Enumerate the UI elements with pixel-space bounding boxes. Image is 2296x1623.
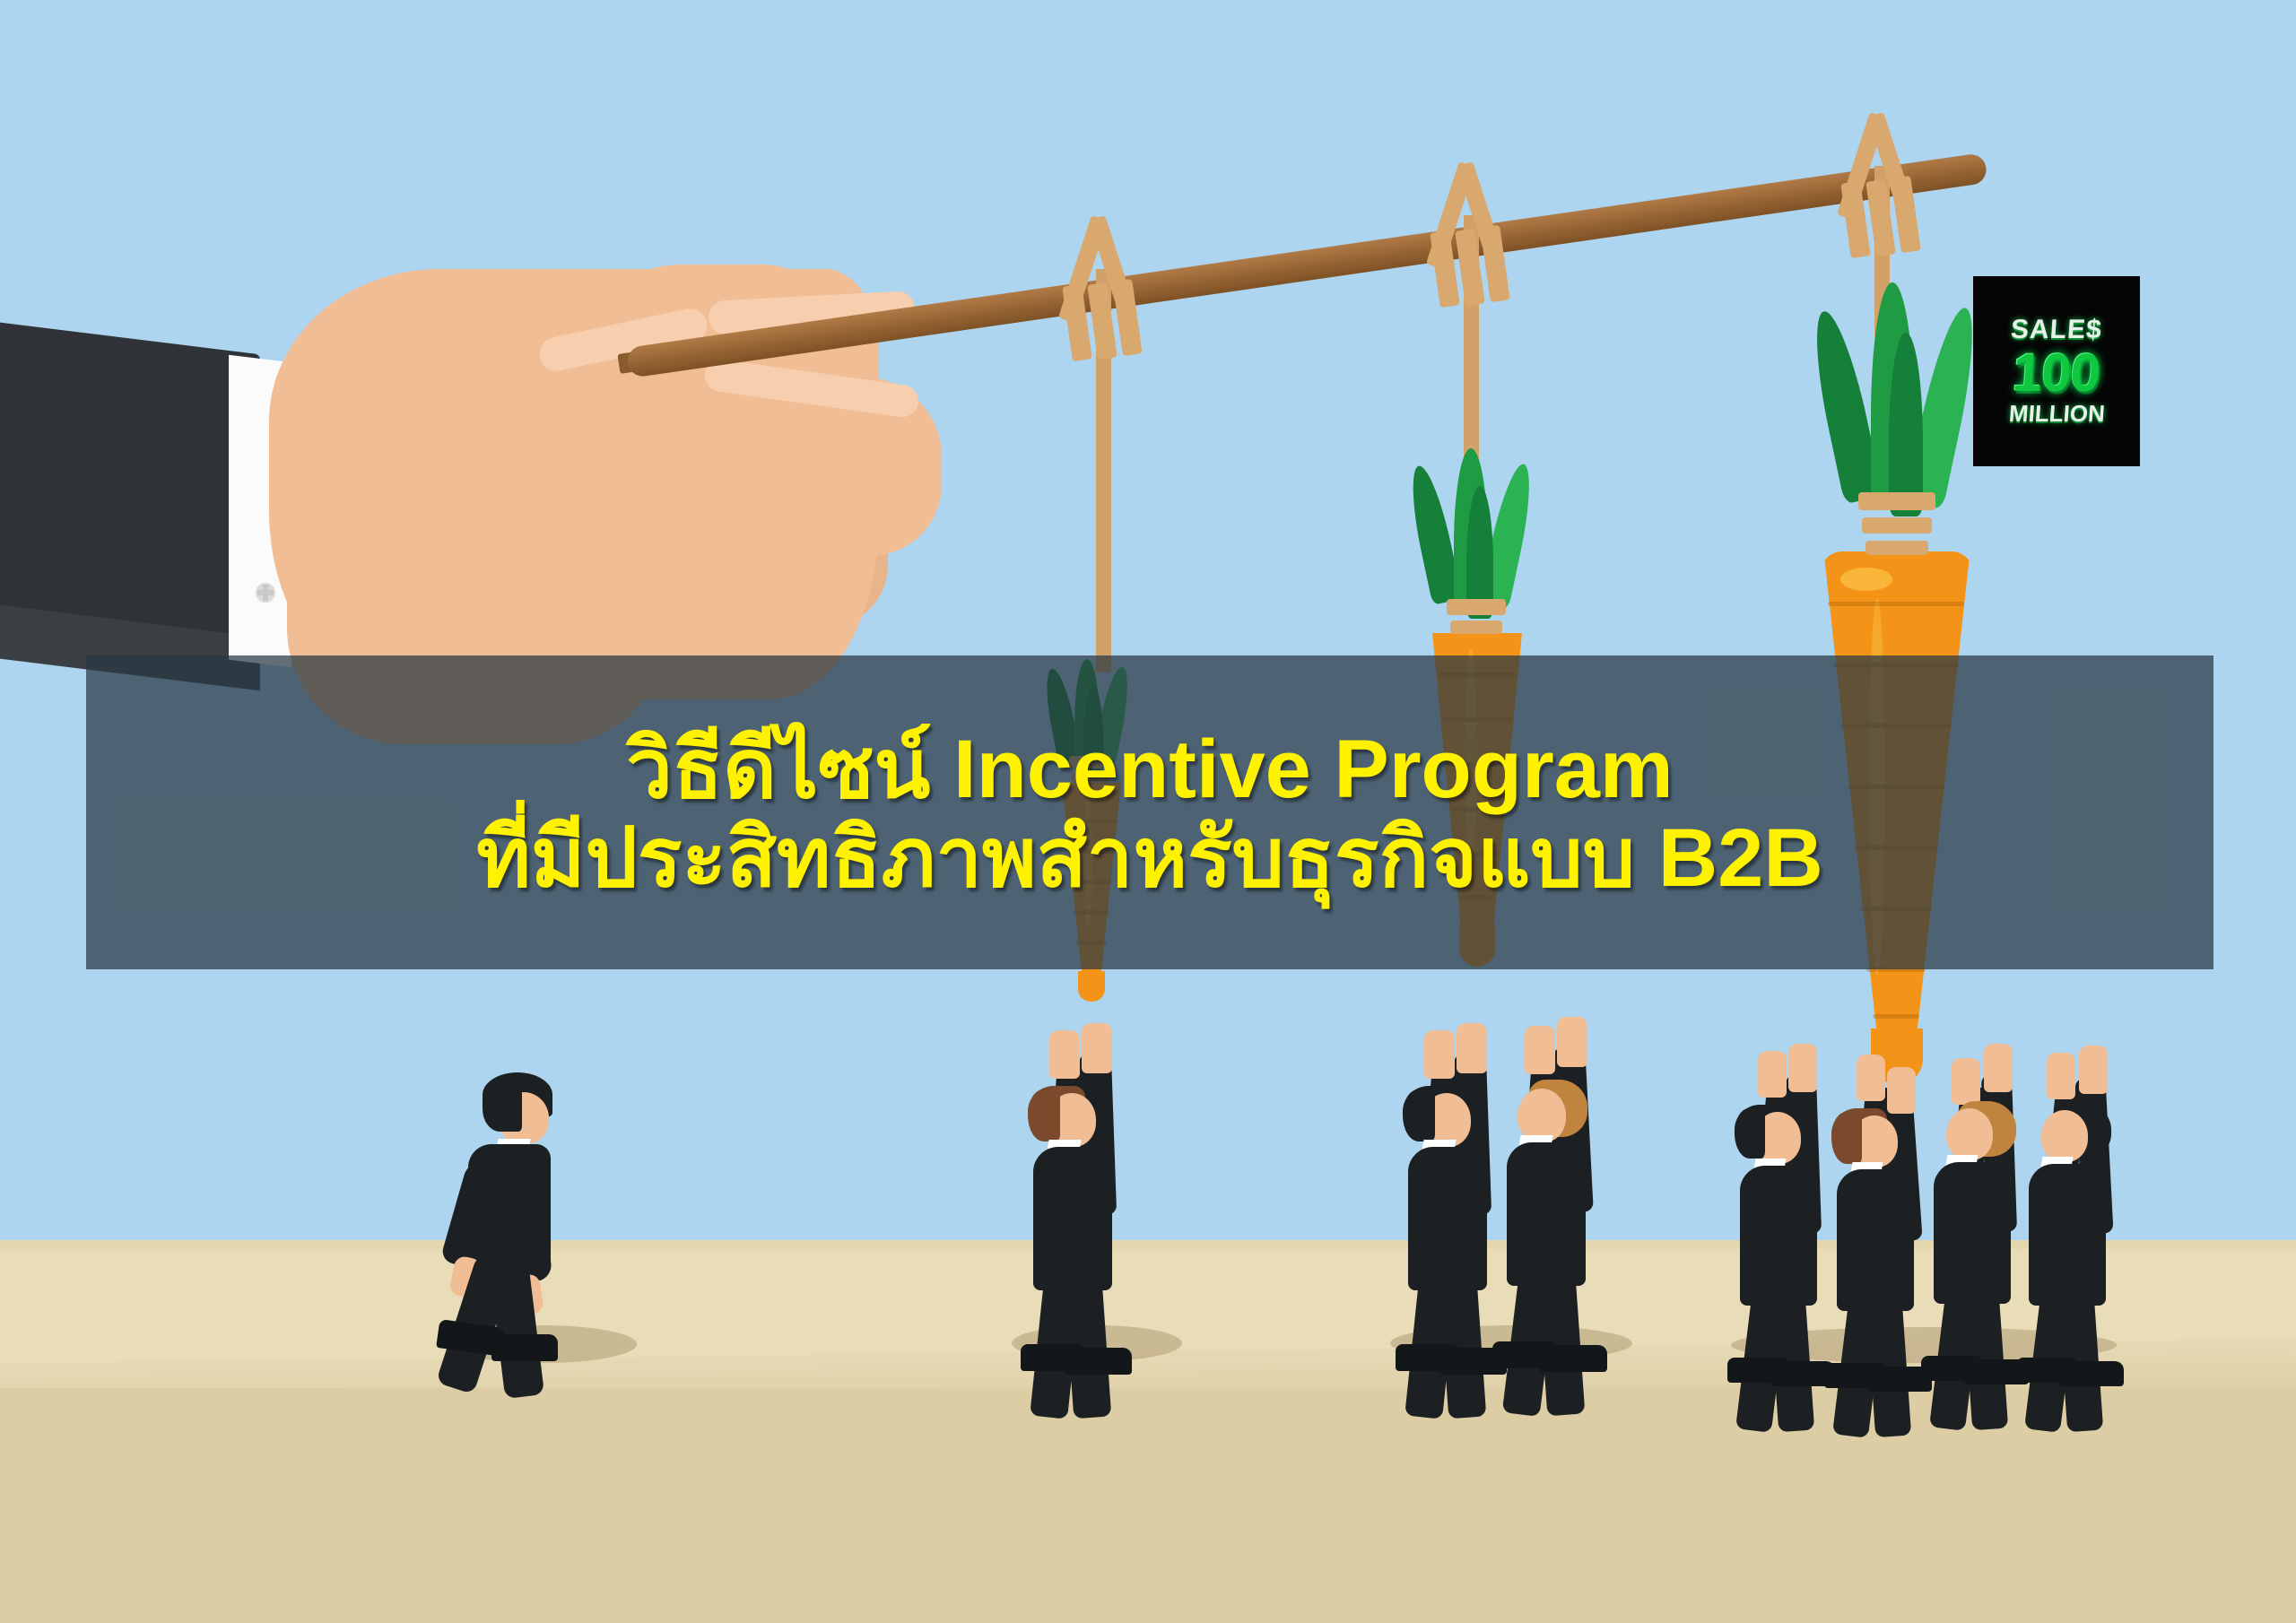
title-banner: วิธีดีไซน์ Incentive Program ที่มีประสิท… (86, 655, 2213, 969)
sales-goal-badge[interactable]: SALE$ 100 MILLION (1973, 276, 2140, 466)
badge-sales-label: SALE$ (2010, 315, 2103, 345)
figure-walking-away (441, 1072, 621, 1350)
figure-reaching-pair-b (1498, 1031, 1659, 1345)
badge-amount: 100 (2011, 347, 2101, 398)
title-line-two: ที่มีประสิทธิภาพสำหรับธุรกิจแบบ B2B (476, 814, 1823, 903)
cuff-button-icon (256, 583, 275, 603)
figure-reaching-single (1022, 1036, 1184, 1350)
illustration-canvas: SALE$ 100 MILLION วิธีดีไซน์ Incentive P… (0, 0, 2296, 1623)
figure-reaching-quad-d (2022, 1058, 2183, 1372)
badge-unit-label: MILLION (2007, 400, 2105, 428)
title-line-one: วิธีดีไซน์ Incentive Program (626, 725, 1673, 814)
